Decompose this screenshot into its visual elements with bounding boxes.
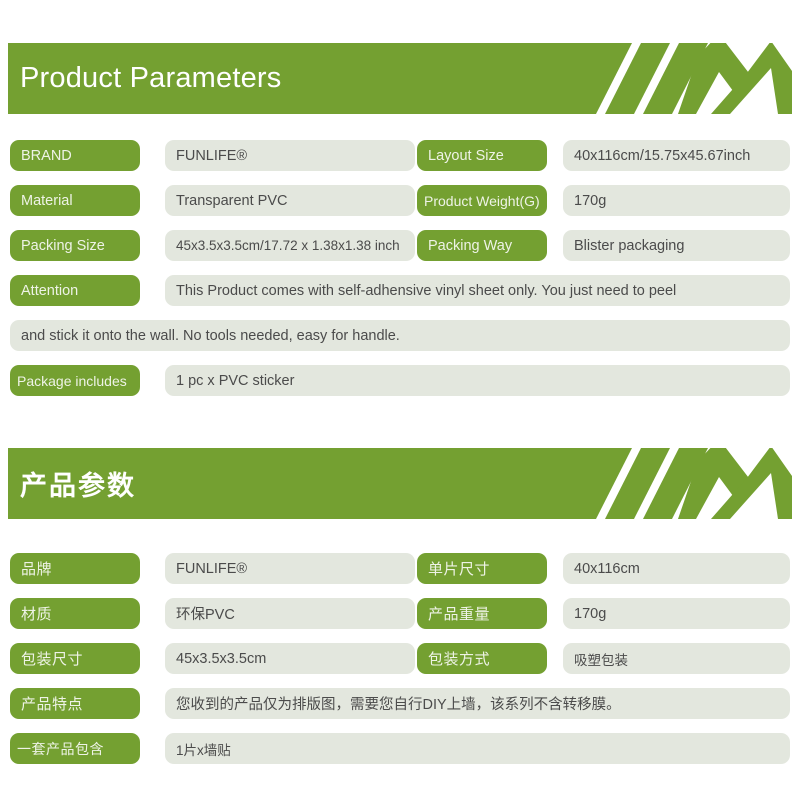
value-sheet-size-cn: 40x116cm: [563, 553, 790, 584]
value-brand: FUNLIFE®: [165, 140, 415, 171]
product-parameters-page: Product Parameters BRAND FUNLIFE® Layout…: [0, 0, 800, 800]
label-packing-way-cn: 包装方式: [417, 643, 547, 674]
chinese-banner: 产品参数: [8, 448, 792, 519]
label-sheet-size-cn: 单片尺寸: [417, 553, 547, 584]
english-banner: Product Parameters: [8, 43, 792, 114]
table-row: 材质 环保PVC 产品重量 170g: [10, 598, 790, 643]
value-attention-line1: This Product comes with self-adhensive v…: [165, 275, 790, 306]
table-row: 包装尺寸 45x3.5x3.5cm 包装方式 吸塑包装: [10, 643, 790, 688]
value-material-cn: 环保PVC: [165, 598, 415, 629]
value-material: Transparent PVC: [165, 185, 415, 216]
value-packing-size-cn: 45x3.5x3.5cm: [165, 643, 415, 674]
label-product-weight: Product Weight(G): [417, 185, 547, 216]
value-product-weight-cn: 170g: [563, 598, 790, 629]
value-product-weight: 170g: [563, 185, 790, 216]
table-row-package-cn: 一套产品包含 1片x墙贴: [10, 733, 790, 778]
table-row-attention: Attention This Product comes with self-a…: [10, 275, 790, 320]
value-package-includes: 1 pc x PVC sticker: [165, 365, 790, 396]
table-row-feature: 产品特点 您收到的产品仅为排版图，需要您自行DIY上墙，该系列不含转移膜。: [10, 688, 790, 733]
label-brand-cn: 品牌: [10, 553, 140, 584]
label-attention: Attention: [10, 275, 140, 306]
label-package-includes: Package includes: [10, 365, 140, 396]
value-brand-cn: FUNLIFE®: [165, 553, 415, 584]
english-table: BRAND FUNLIFE® Layout Size 40x116cm/15.7…: [10, 140, 790, 410]
table-row: Packing Size 45x3.5x3.5cm/17.72 x 1.38x1…: [10, 230, 790, 275]
table-row-attention-continued: and stick it onto the wall. No tools nee…: [10, 320, 790, 365]
label-layout-size: Layout Size: [417, 140, 547, 171]
chinese-banner-title: 产品参数: [20, 448, 136, 519]
label-package-includes-cn: 一套产品包含: [10, 733, 140, 764]
label-packing-way: Packing Way: [417, 230, 547, 261]
value-attention-line2: and stick it onto the wall. No tools nee…: [10, 320, 790, 351]
label-material: Material: [10, 185, 140, 216]
value-package-includes-cn: 1片x墙贴: [165, 733, 790, 764]
value-packing-size: 45x3.5x3.5cm/17.72 x 1.38x1.38 inch: [165, 230, 415, 261]
value-feature-cn: 您收到的产品仅为排版图，需要您自行DIY上墙，该系列不含转移膜。: [165, 688, 790, 719]
value-packing-way: Blister packaging: [563, 230, 790, 261]
label-brand: BRAND: [10, 140, 140, 171]
chinese-table: 品牌 FUNLIFE® 单片尺寸 40x116cm 材质 环保PVC 产品重量 …: [10, 553, 790, 778]
label-product-weight-cn: 产品重量: [417, 598, 547, 629]
table-row: 品牌 FUNLIFE® 单片尺寸 40x116cm: [10, 553, 790, 598]
label-packing-size: Packing Size: [10, 230, 140, 261]
table-row-package: Package includes 1 pc x PVC sticker: [10, 365, 790, 410]
english-banner-title: Product Parameters: [20, 43, 282, 114]
label-feature-cn: 产品特点: [10, 688, 140, 719]
table-row: Material Transparent PVC Product Weight(…: [10, 185, 790, 230]
label-packing-size-cn: 包装尺寸: [10, 643, 140, 674]
value-layout-size: 40x116cm/15.75x45.67inch: [563, 140, 790, 171]
table-row: BRAND FUNLIFE® Layout Size 40x116cm/15.7…: [10, 140, 790, 185]
label-material-cn: 材质: [10, 598, 140, 629]
value-packing-way-cn: 吸塑包装: [563, 643, 790, 674]
